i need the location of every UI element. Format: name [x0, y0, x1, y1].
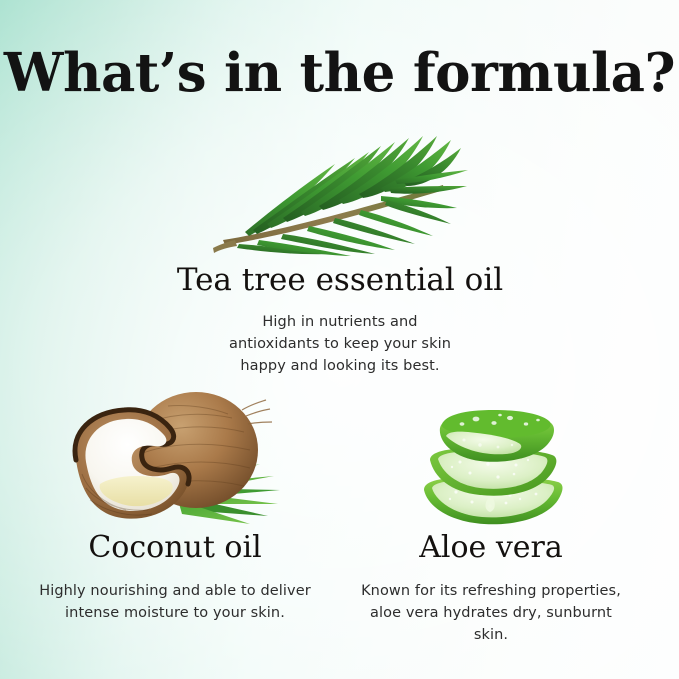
tea-tree-art-container	[90, 128, 590, 256]
ingredient-description-coconut: Highly nourishing and able to deliver in…	[39, 580, 311, 624]
tea-tree-branch-icon	[209, 128, 471, 256]
tea-tree-leaves-upper	[245, 136, 461, 236]
ingredient-description-aloe: Known for its refreshing properties, alo…	[355, 580, 627, 646]
ingredient-card-tea-tree: Tea tree essential oil High in nutrients…	[90, 128, 590, 377]
ingredient-card-coconut: Coconut oil Highly nourishing and able t…	[22, 388, 328, 624]
ingredient-name-aloe: Aloe vera	[338, 532, 644, 564]
coconut-art-container	[22, 388, 328, 528]
page-title: What’s in the formula?	[0, 40, 679, 106]
aloe-vera-slices-icon	[406, 398, 576, 528]
ingredients-infographic: What’s in the formula?	[0, 0, 679, 679]
ingredient-description-tea-tree: High in nutrients and antioxidants to ke…	[225, 311, 455, 377]
ingredient-name-tea-tree: Tea tree essential oil	[90, 264, 590, 297]
aloe-art-container	[338, 398, 644, 528]
coconut-icon	[60, 388, 290, 528]
ingredient-name-coconut: Coconut oil	[22, 532, 328, 564]
ingredient-card-aloe: Aloe vera Known for its refreshing prope…	[338, 398, 644, 646]
